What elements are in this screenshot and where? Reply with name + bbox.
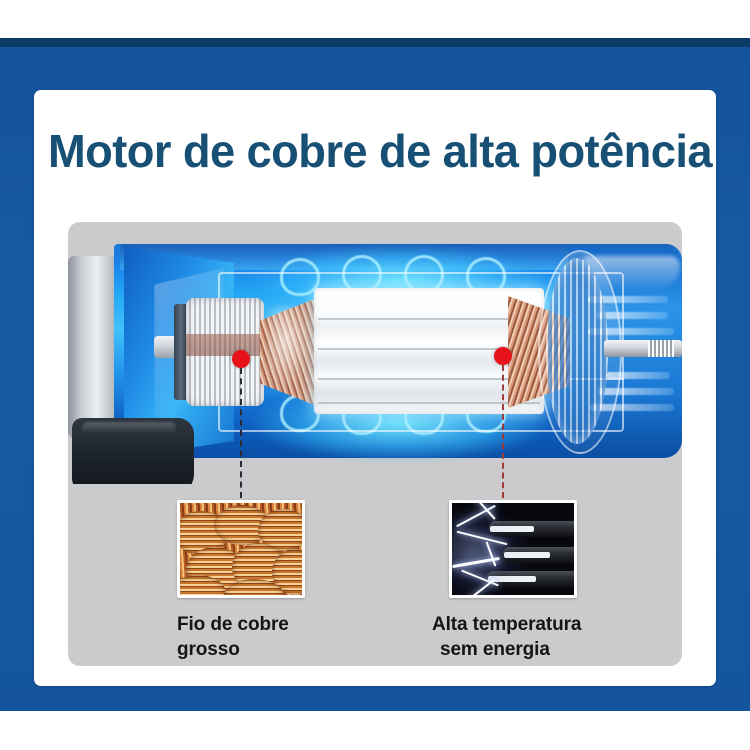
marker-cooling-fan [494,347,512,365]
illustration-panel [68,222,682,666]
copper-winding-highlight [268,306,314,394]
cable-core [490,526,534,532]
electric-arc-cable-photo [449,500,577,598]
caption-copper-wire-line2: grosso [177,637,407,662]
rear-shaft-thread [648,340,674,357]
cable-core [488,576,536,582]
caption-copper-wire-line1: Fio de cobre [177,614,289,635]
armature-lamination-line [318,378,540,380]
infographic-page: Motor de cobre de alta potência [0,0,750,750]
caption-high-temperature-line1: Alta temperatura [432,614,581,635]
caption-high-temperature-line2: sem energia [432,637,682,662]
page-title: Motor de cobre de alta potência [48,123,708,179]
armature-lamination-line [318,402,540,404]
caption-high-temperature: Alta temperatura sem energia [432,612,682,662]
top-navy-strip [0,38,750,47]
grinder-handle-highlight [82,422,176,434]
caption-copper-wire: Fio de cobre grosso [177,612,407,662]
copper-coil-art [180,503,302,595]
electric-arc-art [452,503,574,595]
armature-lamination-line [318,318,540,320]
commutator-copper-band [186,334,264,356]
cable-core [504,552,550,558]
copper-coil-photo [177,500,305,598]
leader-line-temperature [502,365,504,498]
motor-cutaway-illustration [68,222,682,484]
marker-copper-winding [232,350,250,368]
leader-line-copper [240,368,242,498]
